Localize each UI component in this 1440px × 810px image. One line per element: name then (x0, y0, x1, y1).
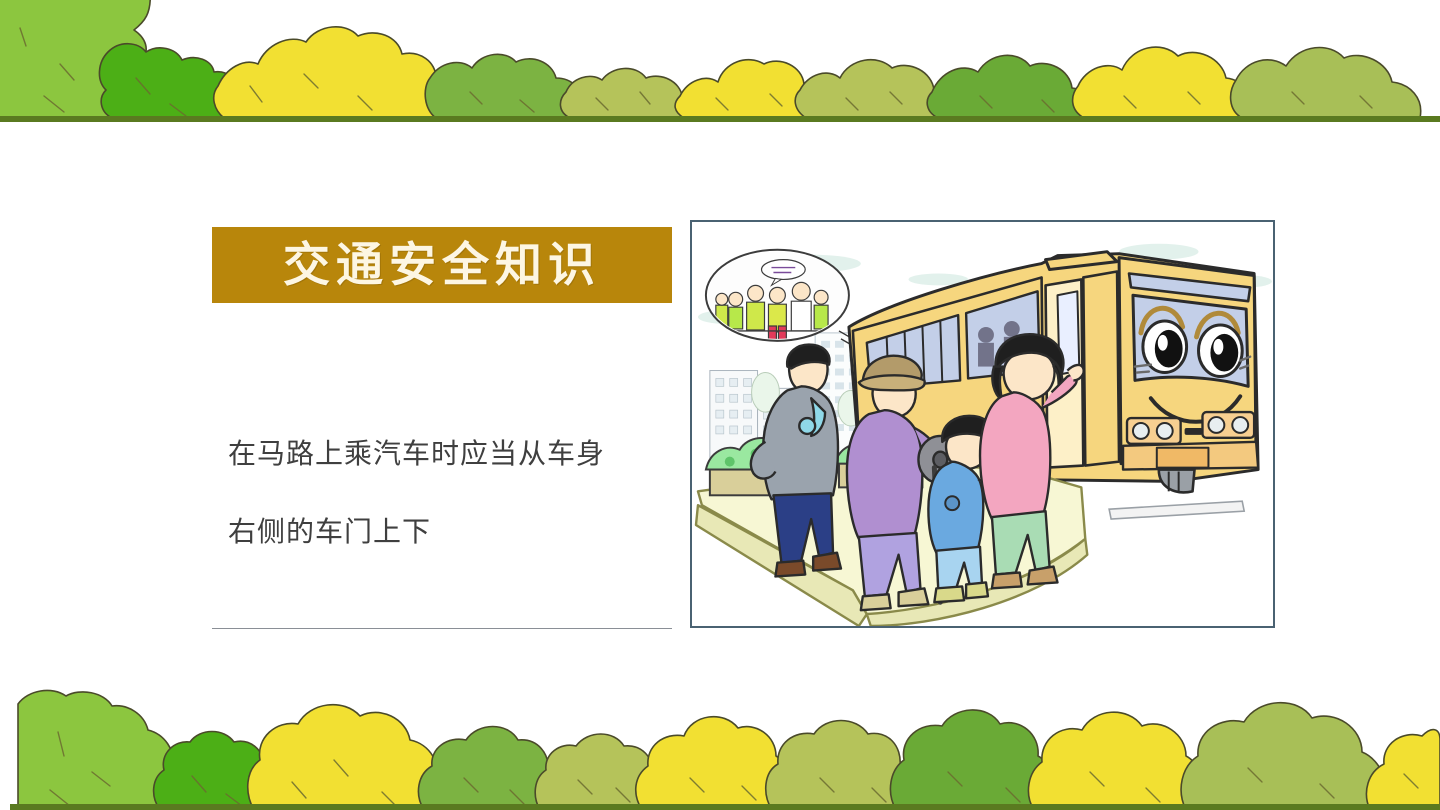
body-line-1: 在马路上乘汽车时应当从车身 (228, 415, 680, 493)
top-bush-svg (0, 0, 1440, 126)
title-banner: 交通安全知识 (212, 227, 672, 303)
body-line-2: 右侧的车门上下 (228, 493, 680, 571)
text-divider-rule (212, 628, 672, 629)
bottom-bush-svg (0, 660, 1440, 810)
top-bush-border (0, 0, 1440, 126)
bus-boarding-illustration (692, 222, 1273, 626)
illustration-frame (690, 220, 1275, 628)
body-text-block: 在马路上乘汽车时应当从车身 右侧的车门上下 (228, 415, 680, 571)
slide-root: 交通安全知识 在马路上乘汽车时应当从车身 右侧的车门上下 (0, 0, 1440, 810)
bottom-bush-border (0, 660, 1440, 810)
page-title: 交通安全知识 (283, 242, 601, 289)
